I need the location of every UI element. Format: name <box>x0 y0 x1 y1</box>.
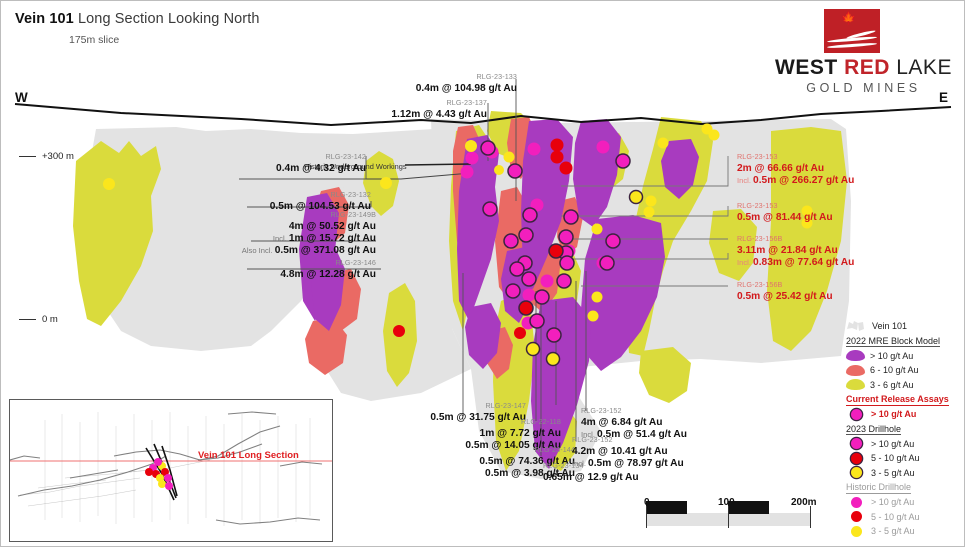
legend-label-mre-3-6: 3 - 6 g/t Au <box>870 380 914 390</box>
logo-mark: 🍁 <box>824 9 880 53</box>
assay-value-also-incl: Also Incl. 0.5m @ 371.08 g/t Au <box>31 245 376 257</box>
legend-row-historic-gt10: > 10 g/t Au <box>846 495 958 510</box>
annotation-rlg-23-156b-b: RLG-23-156B 0.5m @ 25.42 g/t Au <box>737 279 833 303</box>
annotation-rlg-23-137: RLG-23-137 1.12m @ 4.43 g/t Au <box>207 97 487 121</box>
scale-tick-100 <box>728 506 729 528</box>
assay-value: 4m @ 6.84 g/t Au <box>581 417 687 429</box>
legend-row-historic-3-5: 3 - 5 g/t Au <box>846 524 958 539</box>
drillhole-id: RLG-23-156B <box>737 233 854 245</box>
inset-map-label: Vein 101 Long Section <box>198 450 299 461</box>
incl-prefix: Incl. <box>273 234 289 243</box>
legend-heading-current-release: Current Release Assays <box>846 394 949 406</box>
swatch-yellow-ring-dot-icon <box>851 467 862 478</box>
drillhole-id: RLG-23-156B <box>737 279 833 291</box>
drillhole-id: RLG-23-144 <box>301 444 575 456</box>
maple-leaf-icon: 🍁 <box>841 12 856 24</box>
assay-value: 0.4m @ 104.98 g/t Au <box>237 83 517 95</box>
drillhole-id: RLG-23-142 <box>81 151 366 163</box>
assay-value: 3.11m @ 21.84 g/t Au <box>737 245 854 257</box>
assay-value: 1.12m @ 4.43 g/t Au <box>207 109 487 121</box>
drillhole-id: RLG-23-152 <box>581 405 687 417</box>
assay-value-incl: Incl. 0.5m @ 266.27 g/t Au <box>737 175 854 187</box>
annotation-rlg-23-149b: RLG-23-149B 4m @ 50.52 g/t Au Incl. 1m @… <box>31 209 376 258</box>
legend-row-historic-5-10: 5 - 10 g/t Au <box>846 510 958 525</box>
swatch-red-ring-dot-icon <box>851 453 862 464</box>
scale-label-100: 100 <box>718 497 735 508</box>
also-incl-prefix: Also Incl. <box>242 246 275 255</box>
logo-tagline: GOLD MINES <box>771 81 956 95</box>
assay-value: 0.4m @ 4.32 g/t Au <box>81 163 366 175</box>
drillhole-id: RLG-23-134 <box>543 460 639 472</box>
logo-word-west: WEST <box>775 56 838 79</box>
legend-row-2023-3-5: 3 - 5 g/t Au <box>846 466 958 481</box>
page-title: Vein 101 Long Section Looking North <box>15 11 260 27</box>
legend-label-2023-gt10: > 10 g/t Au <box>871 439 914 449</box>
legend-label-vein101: Vein 101 <box>872 321 907 331</box>
elevation-tick-300: +300 m <box>19 151 74 162</box>
compass-east: E <box>939 90 948 105</box>
legend-row-mre-gt10: > 10 g/t Au <box>846 349 958 364</box>
swatch-purple-blob-icon <box>846 350 865 361</box>
swatch-red-dot-icon <box>851 511 862 522</box>
annotation-rlg-23-134: RLG-23-134 0.65m @ 12.9 g/t Au <box>543 460 639 484</box>
logo-wordmark: WEST RED LAKE <box>771 56 956 79</box>
drillhole-id: RLG-23-153 <box>737 200 833 212</box>
compass-west: W <box>15 90 28 105</box>
legend-label-historic-gt10: > 10 g/t Au <box>871 497 914 507</box>
scale-tick-200 <box>810 506 811 528</box>
legend-row-vein101: Vein 101 <box>846 319 958 334</box>
assay-value: 4.2m @ 10.41 g/t Au <box>572 446 684 458</box>
legend-label-current-gt10: > 10 g/t Au <box>871 409 916 419</box>
assay-value: 4.8m @ 12.28 g/t Au <box>81 269 376 281</box>
drillhole-id: RLG-23-153 <box>737 151 854 163</box>
legend-label-mre-gt10: > 10 g/t Au <box>870 351 913 361</box>
drillhole-id: RLG-23-133 <box>237 71 517 83</box>
legend-heading-historic-drillhole: Historic Drillhole <box>846 482 911 494</box>
assay-value-2: 0.5m @ 3.98 g/t Au <box>301 468 575 480</box>
historic-workings-leader <box>405 164 471 165</box>
legend-label-mre-6-10: 6 - 10 g/t Au <box>870 365 919 375</box>
elevation-label: 0 m <box>42 314 58 325</box>
legend-row-mre-3-6: 3 - 6 g/t Au <box>846 378 958 393</box>
drillhole-id: RLG-23-152 <box>572 434 684 446</box>
also-incl-text: 0.5m @ 371.08 g/t Au <box>275 245 376 256</box>
legend: Vein 101 2022 MRE Block Model > 10 g/t A… <box>846 319 958 539</box>
annotation-rlg-23-153-b: RLG-23-153 0.5m @ 81.44 g/t Au <box>737 200 833 224</box>
legend-label-2023-5-10: 5 - 10 g/t Au <box>871 453 920 463</box>
incl-prefix: Incl. <box>737 176 753 185</box>
tick-dash-icon <box>19 319 36 320</box>
legend-label-2023-3-5: 3 - 5 g/t Au <box>871 468 915 478</box>
page-title-rest: Long Section Looking North <box>74 11 260 27</box>
annotation-rlg-23-142: RLG-23-142 0.4m @ 4.32 g/t Au <box>81 151 366 175</box>
inset-map-graphic <box>10 400 332 541</box>
swatch-magenta-dot-icon <box>851 497 862 508</box>
legend-row-mre-6-10: 6 - 10 g/t Au <box>846 363 958 378</box>
swatch-magenta-ring-dot-icon <box>851 409 862 420</box>
annotation-rlg-23-144: RLG-23-144 0.5m @ 74.36 g/t Au 0.5m @ 3.… <box>301 444 575 480</box>
legend-heading-2022-mre: 2022 MRE Block Model <box>846 336 940 348</box>
incl-text: 0.83m @ 77.64 g/t Au <box>753 257 854 268</box>
assay-value-1: 0.5m @ 74.36 g/t Au <box>301 456 575 468</box>
drillhole-id: RLG-23-137 <box>207 97 487 109</box>
legend-label-historic-3-5: 3 - 5 g/t Au <box>871 526 915 536</box>
vein-101-swatch-icon <box>846 320 865 332</box>
assay-value: 4m @ 50.52 g/t Au <box>31 221 376 233</box>
annotation-rlg-23-133: RLG-23-133 0.4m @ 104.98 g/t Au <box>237 71 517 95</box>
inset-map[interactable]: Vein 101 Long Section <box>9 399 333 542</box>
figure-root: Vein 101 Long Section Looking North 175m… <box>0 0 965 547</box>
legend-row-current-gt10: > 10 g/t Au <box>846 407 958 422</box>
assay-value: 2m @ 66.66 g/t Au <box>737 163 854 175</box>
drillhole-id: RLG-23-146 <box>81 257 376 269</box>
legend-heading-2023-drillhole: 2023 Drillhole <box>846 424 901 436</box>
assay-value: 0.65m @ 12.9 g/t Au <box>543 472 639 484</box>
annotation-rlg-23-153-a: RLG-23-153 2m @ 66.66 g/t Au Incl. 0.5m … <box>737 151 854 187</box>
assay-value-incl: Incl. 0.83m @ 77.64 g/t Au <box>737 257 854 269</box>
logo-word-lake: LAKE <box>896 56 952 79</box>
annotation-rlg-23-146: RLG-23-146 4.8m @ 12.28 g/t Au <box>81 257 376 281</box>
elevation-tick-0: 0 m <box>19 314 58 325</box>
logo-word-red: RED <box>844 56 890 79</box>
annotation-rlg-23-156b-a: RLG-23-156B 3.11m @ 21.84 g/t Au Incl. 0… <box>737 233 854 269</box>
swatch-yellow-blob-icon <box>846 379 865 390</box>
page-title-bold: Vein 101 <box>15 11 74 27</box>
swatch-yellow-dot-icon <box>851 526 862 537</box>
legend-row-2023-5-10: 5 - 10 g/t Au <box>846 451 958 466</box>
incl-text: 0.5m @ 266.27 g/t Au <box>753 175 854 186</box>
scale-tick-0 <box>646 506 647 528</box>
swatch-magenta-ring-dot-icon <box>851 438 862 449</box>
company-logo: 🍁 WEST RED LAKE GOLD MINES <box>771 9 956 101</box>
scale-label-0: 0 <box>644 497 650 508</box>
assay-value: 0.5m @ 81.44 g/t Au <box>737 212 833 224</box>
scale-block-1 <box>646 501 687 514</box>
elevation-label: +300 m <box>42 151 74 162</box>
tick-dash-icon <box>19 156 36 157</box>
legend-label-historic-5-10: 5 - 10 g/t Au <box>871 512 920 522</box>
incl-prefix: Incl. <box>737 258 753 267</box>
swatch-salmon-blob-icon <box>846 365 865 376</box>
scale-label-200: 200m <box>791 497 817 508</box>
page-subtitle: 175m slice <box>69 34 119 46</box>
drillhole-id: RLG-23-149B <box>31 209 376 221</box>
assay-value: 0.5m @ 25.42 g/t Au <box>737 291 833 303</box>
legend-row-2023-gt10: > 10 g/t Au <box>846 437 958 452</box>
incl-text: 1m @ 15.72 g/t Au <box>289 233 376 244</box>
assay-value-incl: Incl. 1m @ 15.72 g/t Au <box>31 233 376 245</box>
drillhole-id: RLG-23-132 <box>81 189 371 201</box>
